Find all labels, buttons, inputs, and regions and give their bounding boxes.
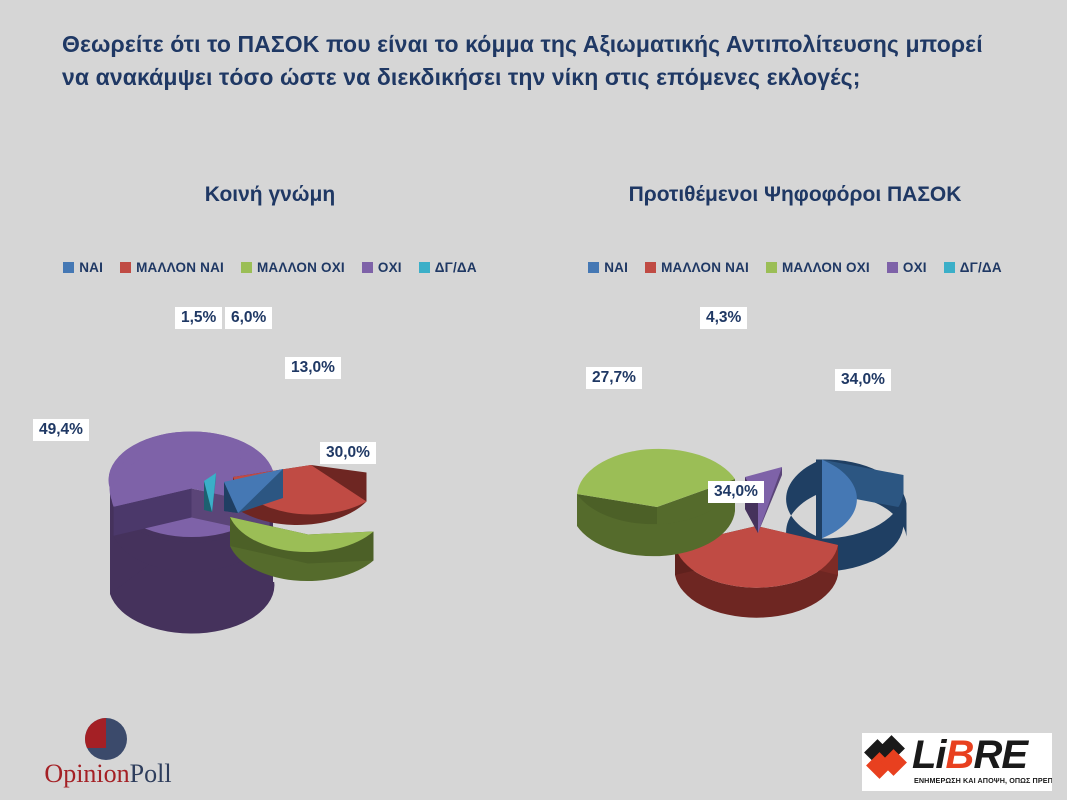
legend-swatch-mallon-oxi-right <box>766 262 777 273</box>
data-label-nai-right-value: 34,0% <box>835 369 891 391</box>
legend-item-dgda-right[interactable]: ΔΓ/ΔΑ <box>944 260 1002 275</box>
legend-label-nai: ΝΑΙ <box>79 260 103 275</box>
data-label-nai-left: 6,0% <box>225 307 272 329</box>
legend-item-mallon-nai[interactable]: ΜΑΛΛΟΝ ΝΑΙ <box>120 260 224 275</box>
legend-item-oxi[interactable]: ΟΧΙ <box>362 260 402 275</box>
libre-tagline: ΕΝΗΜΕΡΩΣΗ ΚΑΙ ΑΠΟΨΗ, ΟΠΩΣ ΠΡΕΠΕΙ ΝΑ ΕΙΝΑ… <box>914 776 1052 785</box>
pie-chart-pasok-voters: 4,3% 27,7% 34,0% 34,0% <box>545 289 1045 659</box>
legend-label-oxi: ΟΧΙ <box>378 260 402 275</box>
opinionpoll-word-poll: Poll <box>130 759 172 788</box>
pie-chart-public-opinion: 1,5% 6,0% 13,0% 30,0% 49,4% <box>20 289 520 659</box>
pie-svg-pasok-voters <box>545 289 1045 659</box>
legend-swatch-mallon-nai-right <box>645 262 656 273</box>
legend-swatch-dgda <box>419 262 430 273</box>
data-label-mallon-nai-right-value: 34,0% <box>708 481 764 503</box>
opinionpoll-pie-slice <box>85 718 106 748</box>
data-label-dgda-left: 1,5% <box>175 307 222 329</box>
legend-item-nai[interactable]: ΝΑΙ <box>63 260 103 275</box>
legend-swatch-nai-right <box>588 262 599 273</box>
libre-logo: LiBRE ΕΝΗΜΕΡΩΣΗ ΚΑΙ ΑΠΟΨΗ, ΟΠΩΣ ΠΡΕΠΕΙ Ν… <box>862 733 1052 791</box>
legend-label-mallon-nai: ΜΑΛΛΟΝ ΝΑΙ <box>136 260 224 275</box>
legend-swatch-mallon-oxi <box>241 262 252 273</box>
legend-label-mallon-oxi-right: ΜΑΛΛΟΝ ΟΧΙ <box>782 260 870 275</box>
legend-swatch-oxi <box>362 262 373 273</box>
legend-item-mallon-nai-right[interactable]: ΜΑΛΛΟΝ ΝΑΙ <box>645 260 749 275</box>
data-label-mallon-oxi-left: 30,0% <box>320 442 376 464</box>
legend-label-mallon-oxi: ΜΑΛΛΟΝ ΟΧΙ <box>257 260 345 275</box>
opinionpoll-pie-icon <box>85 718 127 760</box>
legend-label-dgda-right: ΔΓ/ΔΑ <box>960 260 1002 275</box>
data-label-mallon-oxi-right: 27,7% <box>586 367 642 389</box>
libre-diamonds-icon <box>868 739 912 779</box>
legend-public-opinion: ΝΑΙ ΜΑΛΛΟΝ ΝΑΙ ΜΑΛΛΟΝ ΟΧΙ ΟΧΙ ΔΓ/ΔΑ <box>20 257 520 277</box>
legend-label-oxi-right: ΟΧΙ <box>903 260 927 275</box>
pie-svg-public-opinion <box>20 289 520 659</box>
opinionpoll-logo: OpinionPoll <box>28 718 188 788</box>
libre-word-li: Li <box>912 733 946 777</box>
legend-swatch-mallon-nai <box>120 262 131 273</box>
libre-word-re: RE <box>973 733 1027 777</box>
chart-title-pasok-voters: Προτιθέμενοι Ψηφοφόροι ΠΑΣΟΚ <box>545 180 1045 210</box>
legend-swatch-dgda-right <box>944 262 955 273</box>
libre-word-b: B <box>946 733 974 777</box>
legend-item-oxi-right[interactable]: ΟΧΙ <box>887 260 927 275</box>
page-title: Θεωρείτε ότι το ΠΑΣΟΚ που είναι το κόμμα… <box>62 28 1002 95</box>
legend-swatch-nai <box>63 262 74 273</box>
chart-panel-pasok-voters: Προτιθέμενοι Ψηφοφόροι ΠΑΣΟΚ ΝΑΙ ΜΑΛΛΟΝ … <box>545 180 1045 650</box>
legend-label-nai-right: ΝΑΙ <box>604 260 628 275</box>
chart-title-public-opinion: Κοινή γνώμη <box>20 180 520 210</box>
libre-wordmark: LiBRE <box>912 733 1027 777</box>
legend-item-mallon-oxi[interactable]: ΜΑΛΛΟΝ ΟΧΙ <box>241 260 345 275</box>
legend-swatch-oxi-right <box>887 262 898 273</box>
legend-item-mallon-oxi-right[interactable]: ΜΑΛΛΟΝ ΟΧΙ <box>766 260 870 275</box>
data-label-oxi-left: 49,4% <box>33 419 89 441</box>
legend-item-dgda[interactable]: ΔΓ/ΔΑ <box>419 260 477 275</box>
opinionpoll-word-opinion: Opinion <box>44 759 129 788</box>
legend-label-dgda: ΔΓ/ΔΑ <box>435 260 477 275</box>
chart-panel-public-opinion: Κοινή γνώμη ΝΑΙ ΜΑΛΛΟΝ ΝΑΙ ΜΑΛΛΟΝ ΟΧΙ ΟΧ… <box>20 180 520 650</box>
legend-item-nai-right[interactable]: ΝΑΙ <box>588 260 628 275</box>
legend-pasok-voters: ΝΑΙ ΜΑΛΛΟΝ ΝΑΙ ΜΑΛΛΟΝ ΟΧΙ ΟΧΙ ΔΓ/ΔΑ <box>545 257 1045 277</box>
legend-label-mallon-nai-right: ΜΑΛΛΟΝ ΝΑΙ <box>661 260 749 275</box>
data-label-mallon-nai-left: 13,0% <box>285 357 341 379</box>
opinionpoll-wordmark: OpinionPoll <box>28 760 188 788</box>
data-label-oxi-right: 4,3% <box>700 307 747 329</box>
